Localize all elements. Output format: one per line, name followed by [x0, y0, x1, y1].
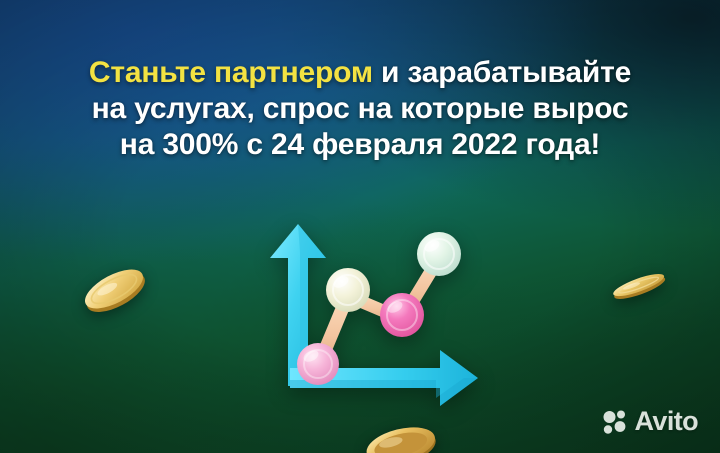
chart-node-4 — [417, 232, 461, 276]
avito-wordmark: Avito — [635, 408, 699, 435]
page-title: Станьте партнером и зарабатывайте на усл… — [0, 55, 720, 163]
coin-right — [608, 264, 670, 308]
chart-node-3 — [380, 293, 424, 337]
headline-line-1-rest: и зарабатывайте — [373, 56, 631, 89]
avito-logo[interactable]: Avito — [602, 408, 699, 435]
avito-promo-banner: Станьте партнером и зарабатывайте на усл… — [0, 0, 720, 453]
headline-line-3: на 300% с 24 февраля 2022 года! — [14, 127, 706, 163]
chart-node-2 — [326, 268, 370, 312]
headline-line-2: на услугах, спрос на которые вырос — [14, 91, 706, 127]
avito-dots-mark — [602, 409, 628, 435]
growth-chart-illustration — [250, 218, 500, 408]
coin-bottom — [358, 424, 444, 453]
headline-highlight: Станьте партнером — [89, 56, 373, 89]
chart-node-1 — [297, 343, 339, 385]
headline-line-1: Станьте партнером и зарабатывайте — [14, 55, 706, 91]
coin-left — [78, 258, 150, 320]
